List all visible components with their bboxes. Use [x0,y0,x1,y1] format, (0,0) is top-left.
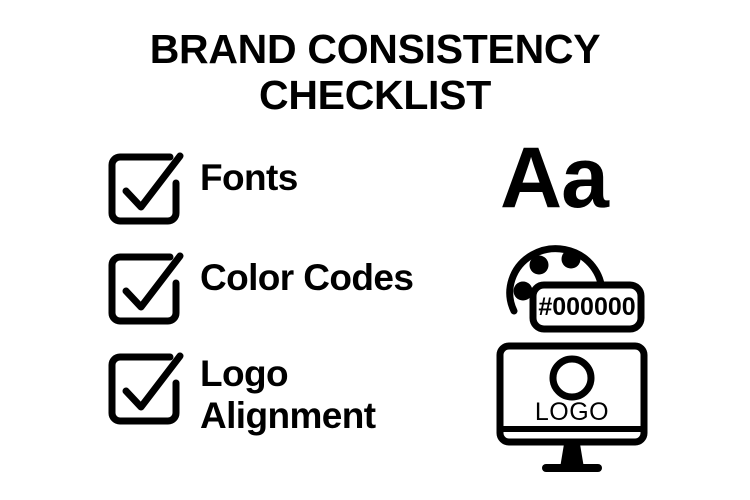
title-line-1: BRAND CONSISTENCY [0,26,750,72]
checkbox-checked-icon[interactable] [104,349,184,429]
checklist-item-label: Fonts [200,145,494,199]
letter-aa-icon: Aa [500,130,650,230]
paint-palette-icon: #000000 [492,233,652,338]
checklist-item-fonts[interactable]: Fonts [104,145,494,245]
checkbox-checked-icon[interactable] [104,249,184,329]
illustration-column: Aa #000000 [492,130,652,480]
checklist-item-color-codes[interactable]: Color Codes [104,245,494,345]
desktop-monitor-icon: LOGO [492,340,652,480]
poster-canvas: BRAND CONSISTENCY CHECKLIST Fonts Color [0,0,750,500]
monitor-logo-label: LOGO [535,398,609,426]
page-title: BRAND CONSISTENCY CHECKLIST [0,26,750,118]
hex-code-label: #000000 [538,293,635,321]
checklist-item-label: Color Codes [200,245,494,299]
title-line-2: CHECKLIST [0,72,750,118]
checkbox-checked-icon[interactable] [104,149,184,229]
checklist-item-label: Logo Alignment [200,345,494,437]
checklist: Fonts Color Codes Logo Alignment [104,145,494,455]
checklist-item-logo-alignment[interactable]: Logo Alignment [104,345,494,455]
